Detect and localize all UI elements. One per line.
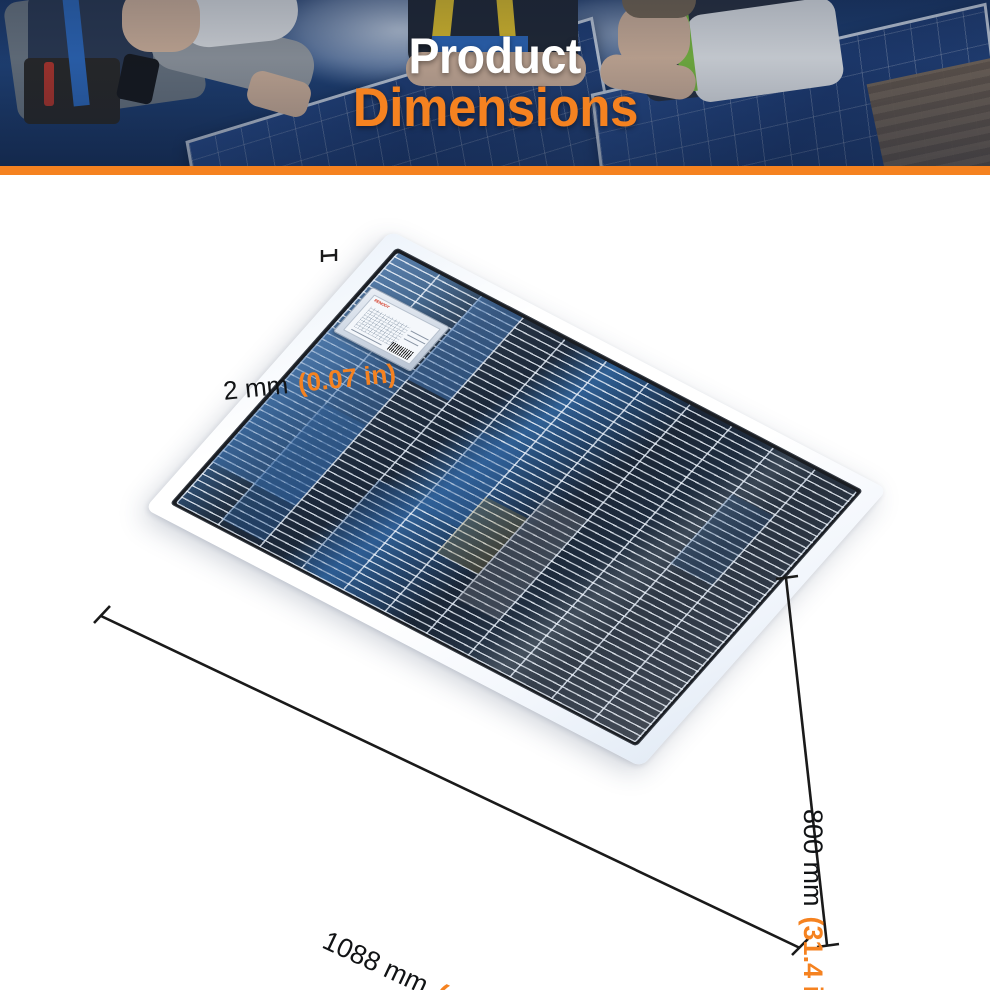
height-imperial-value: (31.4 in) xyxy=(798,917,828,990)
sticker-brand: RENOGY xyxy=(373,299,390,310)
header-banner: Product Dimensions xyxy=(0,0,990,166)
height-metric-value: 800 mm xyxy=(798,809,828,907)
sticker-spec-table xyxy=(354,307,411,347)
solar-panel-body: RENOGY xyxy=(145,231,888,767)
header-divider-rule xyxy=(0,166,990,175)
height-label: 800 mm(31.4 in) xyxy=(799,809,826,990)
dimension-diagram: RENOGY xyxy=(0,175,990,990)
sticker-rule xyxy=(410,331,428,341)
banner-title-block: Product Dimensions xyxy=(0,0,990,166)
cell-glint-overlay xyxy=(175,252,857,743)
solar-panel-illustration: RENOGY xyxy=(0,175,990,990)
page-title-line1: Product xyxy=(409,33,581,80)
product-dimensions-infographic: Product Dimensions xyxy=(0,0,990,990)
panel-cell-array xyxy=(175,252,857,743)
page-title-line2: Dimensions xyxy=(352,82,637,134)
